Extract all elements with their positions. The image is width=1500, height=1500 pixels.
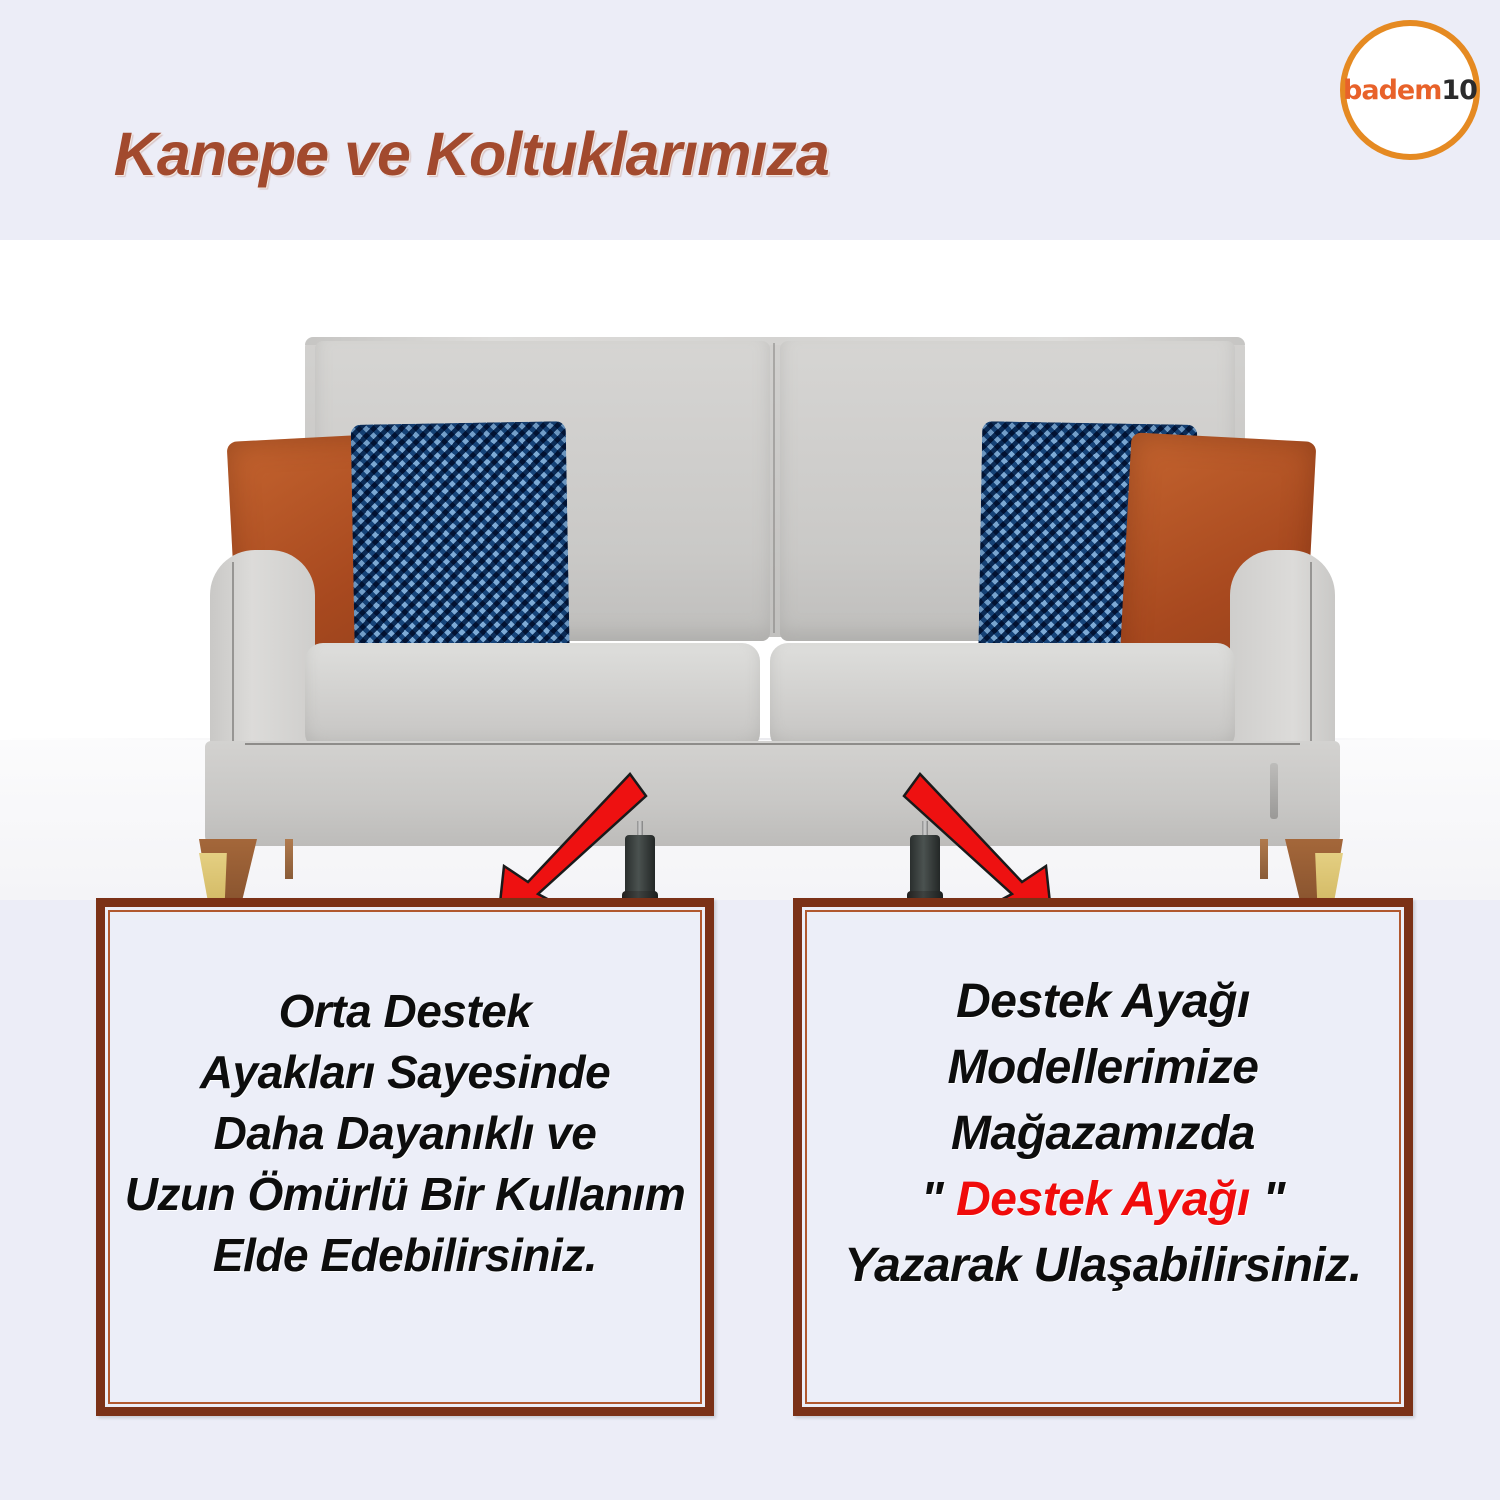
sofa-back-seam xyxy=(773,343,775,633)
highlighted-search-term: Destek Ayağı xyxy=(956,1173,1250,1226)
callout-left-line-2: Ayakları Sayesinde xyxy=(105,1042,705,1103)
quote-close: " xyxy=(1250,1173,1285,1226)
callout-box-right: Destek Ayağı Modellerimize Mağazamızda "… xyxy=(793,898,1413,1416)
armrest-seam xyxy=(232,562,234,752)
sofa-seat-cushion-left xyxy=(305,643,760,751)
center-support-leg-right xyxy=(910,821,940,900)
support-leg-body xyxy=(625,835,655,897)
product-photo xyxy=(0,240,1500,900)
callout-right-line-2: Modellerimize xyxy=(802,1035,1404,1101)
sofa-wooden-leg-right xyxy=(1285,839,1343,900)
callout-left-line-1: Orta Destek xyxy=(105,981,705,1042)
callout-left-line-3: Daha Dayanıklı ve xyxy=(105,1103,705,1164)
center-support-leg-left xyxy=(625,821,655,900)
callout-right-line-1: Destek Ayağı xyxy=(802,969,1404,1035)
quote-open: " xyxy=(921,1173,956,1226)
sofa-wooden-leg-left xyxy=(199,839,257,900)
poster-canvas: Kanepe ve Koltuklarımıza Orta Destek Aya… xyxy=(0,0,1500,1500)
sofa-base-skirt xyxy=(205,741,1340,846)
sofa-illustration xyxy=(185,315,1360,875)
brand-logo[interactable]: badem10 xyxy=(1340,20,1480,160)
armrest-seam xyxy=(1310,562,1312,752)
brand-name-suffix: 10 xyxy=(1441,75,1477,106)
sofa-rear-leg-right xyxy=(1260,839,1268,879)
brand-name-primary: badem xyxy=(1343,75,1441,106)
callout-left-line-5: Elde Edebilirsiniz. xyxy=(105,1225,705,1286)
callout-box-left: Orta Destek Ayakları Sayesinde Daha Daya… xyxy=(96,898,714,1416)
sofa-armrest-right xyxy=(1230,550,1335,770)
sofa-rear-leg-left xyxy=(285,839,293,879)
sofa-armrest-left xyxy=(210,550,315,770)
sofa-seat-cushion-right xyxy=(770,643,1235,751)
callout-right-line-3: Mağazamızda xyxy=(802,1101,1404,1167)
callout-right-line-5: Yazarak Ulaşabilirsiniz. xyxy=(802,1233,1404,1299)
sofa-base-seam xyxy=(245,743,1300,745)
sofa-zipper xyxy=(1270,763,1278,819)
brand-logo-text: badem10 xyxy=(1343,75,1477,106)
callout-right-text: Destek Ayağı Modellerimize Mağazamızda "… xyxy=(802,969,1404,1299)
support-leg-body xyxy=(910,835,940,897)
callout-right-line-4: " Destek Ayağı " xyxy=(802,1167,1404,1233)
headline-line-1: Kanepe ve Koltuklarımıza xyxy=(114,120,829,188)
callout-left-text: Orta Destek Ayakları Sayesinde Daha Daya… xyxy=(105,981,705,1286)
callout-left-line-4: Uzun Ömürlü Bir Kullanım xyxy=(105,1164,705,1225)
